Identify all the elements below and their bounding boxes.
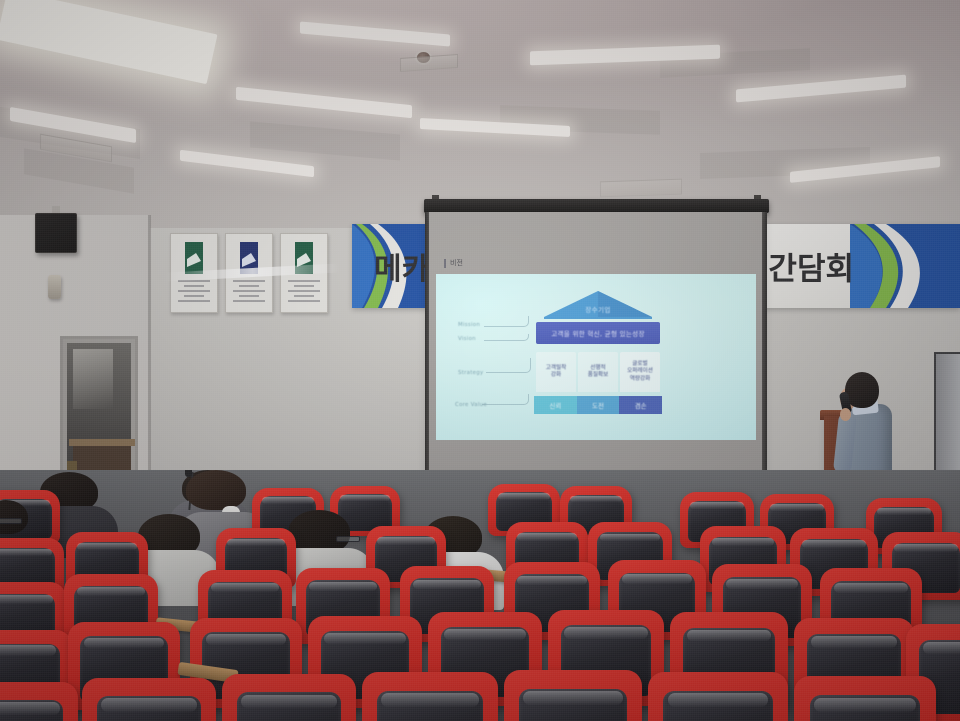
audience-seating <box>0 470 960 721</box>
certificate-3 <box>280 233 328 313</box>
axis-label-strategy: Strategy <box>458 370 484 376</box>
auditorium-photo: 메카트 생 간담회 비전 장수기업 고객을 위한 혁신, 균형 있는성장 고객밀… <box>0 0 960 721</box>
ceiling-vent <box>600 179 682 198</box>
door-light-patch <box>73 349 113 409</box>
certificate-seal-icon <box>239 241 259 275</box>
seat[interactable] <box>362 672 498 721</box>
screen-edge-right <box>762 212 767 512</box>
pediment-label: 장수기업 <box>544 304 652 314</box>
core-value-cell-3: 겸손 <box>619 396 662 414</box>
certificate-seal-icon <box>294 241 314 275</box>
core-value-label-3: 겸손 <box>635 400 647 410</box>
strategy-label-1: 고객밀착강화 <box>546 365 567 380</box>
presenter-hand <box>840 408 851 421</box>
seat[interactable] <box>648 672 788 721</box>
glasses-icon <box>0 518 22 524</box>
axis-label-vision: Vision <box>458 336 476 342</box>
leader-line-vision <box>484 334 529 341</box>
certificate-text-lines <box>178 280 210 305</box>
slide-section-label: 비전 <box>444 259 463 268</box>
wall-speaker-icon <box>35 213 77 253</box>
seat[interactable] <box>794 676 936 721</box>
interior-furniture-top <box>69 439 135 446</box>
core-value-cell-2: 도전 <box>577 396 620 414</box>
microphone-head-icon <box>185 470 192 477</box>
strategy-label-2: 선행적품질확보 <box>588 365 609 380</box>
seat[interactable] <box>0 682 78 721</box>
core-value-label-1: 신뢰 <box>549 400 561 410</box>
core-value-row: 신뢰 도전 겸손 <box>534 396 662 414</box>
glasses-icon <box>336 536 360 542</box>
certificate-2 <box>225 233 273 313</box>
projector-screen-case <box>424 199 769 213</box>
strategy-row: 고객밀착강화 선행적품질확보 글로벌오퍼레이션역량강화 <box>536 352 660 392</box>
seat[interactable] <box>504 670 642 721</box>
wall-device <box>48 275 61 299</box>
strategy-column-1: 고객밀착강화 <box>536 352 576 392</box>
leader-line-strategy <box>486 358 531 373</box>
seat[interactable] <box>82 678 216 721</box>
strategy-column-3: 글로벌오퍼레이션역량강화 <box>620 352 660 392</box>
strategy-column-2: 선행적품질확보 <box>578 352 618 392</box>
certificate-1 <box>170 233 218 313</box>
strategy-label-3: 글로벌오퍼레이션역량강화 <box>627 361 653 384</box>
certificate-seal-icon <box>184 241 204 275</box>
mission-vision-band: 고객을 위한 혁신, 균형 있는성장 <box>536 322 660 344</box>
ceiling <box>0 0 960 232</box>
leader-line-core-value <box>482 394 529 405</box>
audience-hair <box>186 470 246 510</box>
certificate-text-lines <box>233 280 265 305</box>
leader-line-mission <box>484 316 529 327</box>
core-value-cell-1: 신뢰 <box>534 396 577 414</box>
slide-pediment: 장수기업 <box>544 291 652 319</box>
seat[interactable] <box>222 674 356 721</box>
axis-label-mission: Mission <box>458 322 480 328</box>
certificate-text-lines <box>288 280 320 305</box>
core-value-label-2: 도전 <box>592 400 604 410</box>
projected-slide: 장수기업 고객을 위한 혁신, 균형 있는성장 고객밀착강화 선행적품질확보 글… <box>436 274 756 440</box>
mission-vision-text: 고객을 위한 혁신, 균형 있는성장 <box>551 328 644 338</box>
